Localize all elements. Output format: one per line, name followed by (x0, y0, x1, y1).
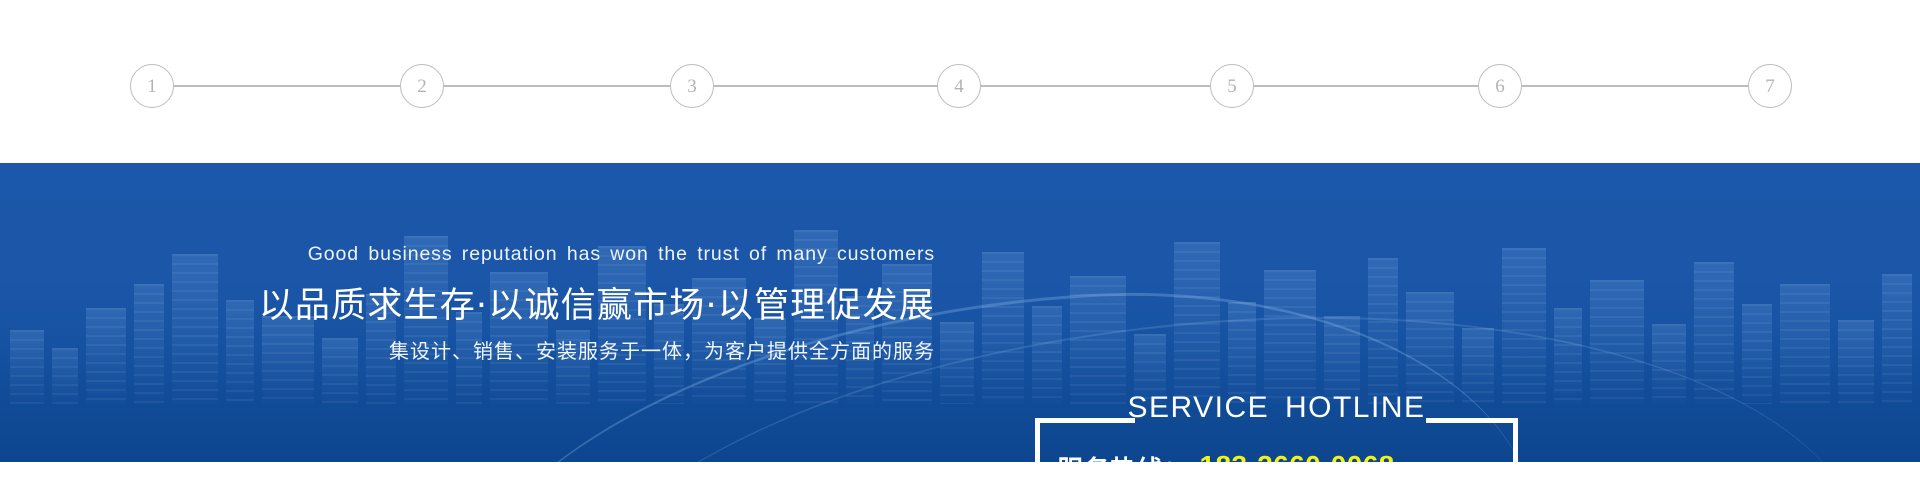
slogan-block: Good business reputation has won the tru… (0, 163, 935, 462)
pagination-step-label: 7 (1765, 77, 1775, 96)
step-pagination: 1 2 3 4 5 6 7 (0, 0, 1920, 163)
pagination-step-4[interactable]: 4 (937, 64, 981, 108)
pagination-step-label: 5 (1227, 77, 1237, 96)
slogan-english: Good business reputation has won the tru… (0, 243, 935, 266)
pagination-step-1[interactable]: 1 (130, 64, 174, 108)
hotline-number-mobile[interactable]: 183-2660-0068 (1200, 448, 1401, 462)
pagination-step-6[interactable]: 6 (1478, 64, 1522, 108)
pagination-step-label: 6 (1495, 77, 1505, 96)
slogan-chinese-main: 以品质求生存·以诚信赢市场·以管理促发展 (0, 277, 935, 328)
hotline-row: 服务热线： 183-2660-0068 0551-63749777 (1057, 448, 1497, 462)
hotline-label: 服务热线： (1057, 448, 1190, 462)
hotline-title: SERVICE HOTLINE (1035, 391, 1518, 425)
pagination-step-2[interactable]: 2 (400, 64, 444, 108)
pagination-step-7[interactable]: 7 (1748, 64, 1792, 108)
pagination-step-label: 2 (417, 77, 427, 96)
pagination-step-label: 3 (687, 77, 697, 96)
service-hotline-box: SERVICE HOTLINE 服务热线： 183-2660-0068 0551… (1035, 418, 1518, 462)
promo-banner: Good business reputation has won the tru… (0, 163, 1920, 462)
pagination-step-5[interactable]: 5 (1210, 64, 1254, 108)
page-root: 1 2 3 4 5 6 7 (0, 0, 1920, 500)
pagination-step-label: 1 (147, 77, 157, 96)
hotline-number-list: 183-2660-0068 0551-63749777 (1200, 448, 1401, 462)
pagination-step-label: 4 (954, 77, 964, 96)
pagination-step-3[interactable]: 3 (670, 64, 714, 108)
slogan-chinese-sub: 集设计、销售、安装服务于一体，为客户提供全方面的服务 (0, 335, 935, 364)
